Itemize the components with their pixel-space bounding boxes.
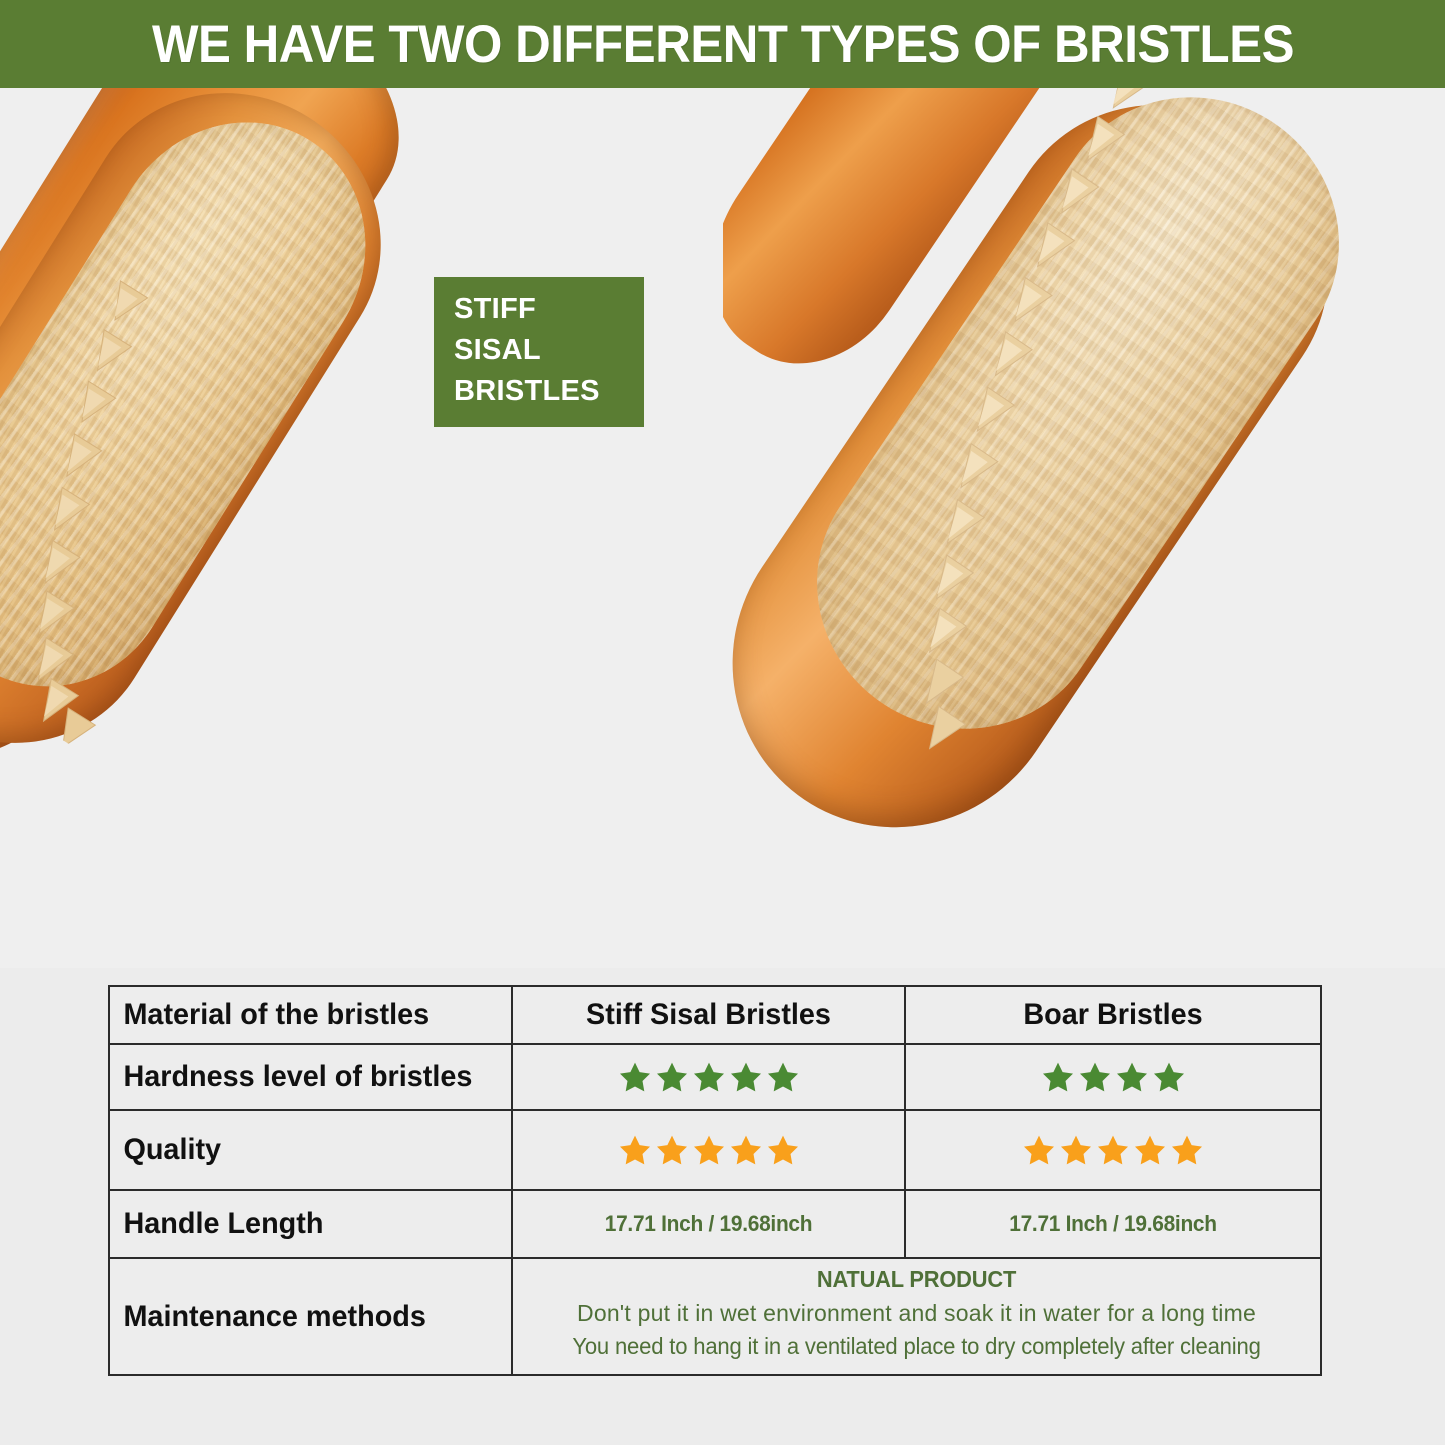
handle-length-value-boar: 17.71 Inch / 19.68inch bbox=[916, 1211, 1309, 1237]
callout-stiff-sisal: STIFF SISAL BRISTLES bbox=[434, 277, 644, 427]
product-photo-area: STIFF SISAL BRISTLES bbox=[0, 88, 1445, 968]
star-icon bbox=[1170, 1133, 1204, 1167]
row-label-handle-length: Handle Length bbox=[110, 1199, 495, 1249]
star-icon bbox=[766, 1060, 800, 1094]
table-cell-quality-label: Quality bbox=[109, 1110, 512, 1190]
maintenance-title: NATUAL PRODUCT bbox=[539, 1266, 1294, 1293]
star-icon bbox=[1152, 1060, 1186, 1094]
table-cell-handle-length-sisal: 17.71 Inch / 19.68inch bbox=[512, 1190, 905, 1258]
star-rating-quality-boar bbox=[906, 1133, 1320, 1167]
row-label-quality: Quality bbox=[110, 1125, 495, 1175]
table-row-header: Material of the bristles Stiff Sisal Bri… bbox=[109, 986, 1321, 1044]
photo-stiff-sisal-brush: STIFF SISAL BRISTLES bbox=[0, 88, 722, 968]
star-icon bbox=[655, 1060, 689, 1094]
star-icon bbox=[729, 1133, 763, 1167]
table-cell-quality-boar bbox=[905, 1110, 1321, 1190]
row-label-material: Material of the bristles bbox=[110, 990, 495, 1040]
photo-boar-brush: BOAR BRISTLES bbox=[723, 88, 1445, 968]
star-icon bbox=[1041, 1060, 1075, 1094]
table-cell-header-label: Material of the bristles bbox=[109, 986, 512, 1044]
handle-length-value-sisal: 17.71 Inch / 19.68inch bbox=[523, 1211, 894, 1237]
column-header-stiff-sisal: Stiff Sisal Bristles bbox=[521, 988, 896, 1042]
table-cell-quality-sisal bbox=[512, 1110, 905, 1190]
star-rating-quality-sisal bbox=[513, 1133, 904, 1167]
column-header-boar: Boar Bristles bbox=[914, 988, 1311, 1042]
star-icon bbox=[1022, 1133, 1056, 1167]
table-cell-hardness-sisal bbox=[512, 1044, 905, 1110]
callout-line-1: STIFF SISAL bbox=[454, 289, 626, 371]
star-icon bbox=[1115, 1060, 1149, 1094]
page-title: WE HAVE TWO DIFFERENT TYPES OF BRISTLES bbox=[151, 14, 1293, 75]
star-icon bbox=[1059, 1133, 1093, 1167]
star-icon bbox=[729, 1060, 763, 1094]
table-row-handle-length: Handle Length 17.71 Inch / 19.68inch 17.… bbox=[109, 1190, 1321, 1258]
brush-illustration-left bbox=[0, 88, 722, 968]
star-icon bbox=[766, 1133, 800, 1167]
table-row-maintenance: Maintenance methods NATUAL PRODUCT Don't… bbox=[109, 1258, 1321, 1375]
row-label-maintenance: Maintenance methods bbox=[110, 1292, 495, 1342]
star-icon bbox=[692, 1060, 726, 1094]
table-cell-handle-length-boar: 17.71 Inch / 19.68inch bbox=[905, 1190, 1321, 1258]
table-row-hardness: Hardness level of bristles bbox=[109, 1044, 1321, 1110]
star-icon bbox=[618, 1060, 652, 1094]
row-label-hardness: Hardness level of bristles bbox=[110, 1052, 495, 1102]
table-cell-header-boar: Boar Bristles bbox=[905, 986, 1321, 1044]
header-banner: WE HAVE TWO DIFFERENT TYPES OF BRISTLES bbox=[0, 0, 1445, 88]
table-row-quality: Quality bbox=[109, 1110, 1321, 1190]
infographic-page: WE HAVE TWO DIFFERENT TYPES OF BRISTLES bbox=[0, 0, 1445, 1445]
table-cell-handle-length-label: Handle Length bbox=[109, 1190, 512, 1258]
star-icon bbox=[1133, 1133, 1167, 1167]
star-icon bbox=[618, 1133, 652, 1167]
star-rating-hardness-sisal bbox=[513, 1060, 904, 1094]
table-cell-maintenance-label: Maintenance methods bbox=[109, 1258, 512, 1375]
table-cell-hardness-label: Hardness level of bristles bbox=[109, 1044, 512, 1110]
star-icon bbox=[655, 1133, 689, 1167]
table-cell-header-sisal: Stiff Sisal Bristles bbox=[512, 986, 905, 1044]
table-cell-hardness-boar bbox=[905, 1044, 1321, 1110]
star-icon bbox=[692, 1133, 726, 1167]
callout-line-2: BRISTLES bbox=[454, 371, 626, 412]
star-rating-hardness-boar bbox=[906, 1060, 1320, 1094]
brush-illustration-right bbox=[783, 88, 1445, 968]
comparison-table: Material of the bristles Stiff Sisal Bri… bbox=[108, 985, 1322, 1376]
table-cell-maintenance-content: NATUAL PRODUCT Don't put it in wet envir… bbox=[512, 1258, 1321, 1375]
maintenance-line-1: Don't put it in wet environment and soak… bbox=[519, 1297, 1314, 1330]
maintenance-line-2: You need to hang it in a ventilated plac… bbox=[535, 1330, 1298, 1363]
star-icon bbox=[1078, 1060, 1112, 1094]
maintenance-block: NATUAL PRODUCT Don't put it in wet envir… bbox=[513, 1260, 1320, 1372]
star-icon bbox=[1096, 1133, 1130, 1167]
